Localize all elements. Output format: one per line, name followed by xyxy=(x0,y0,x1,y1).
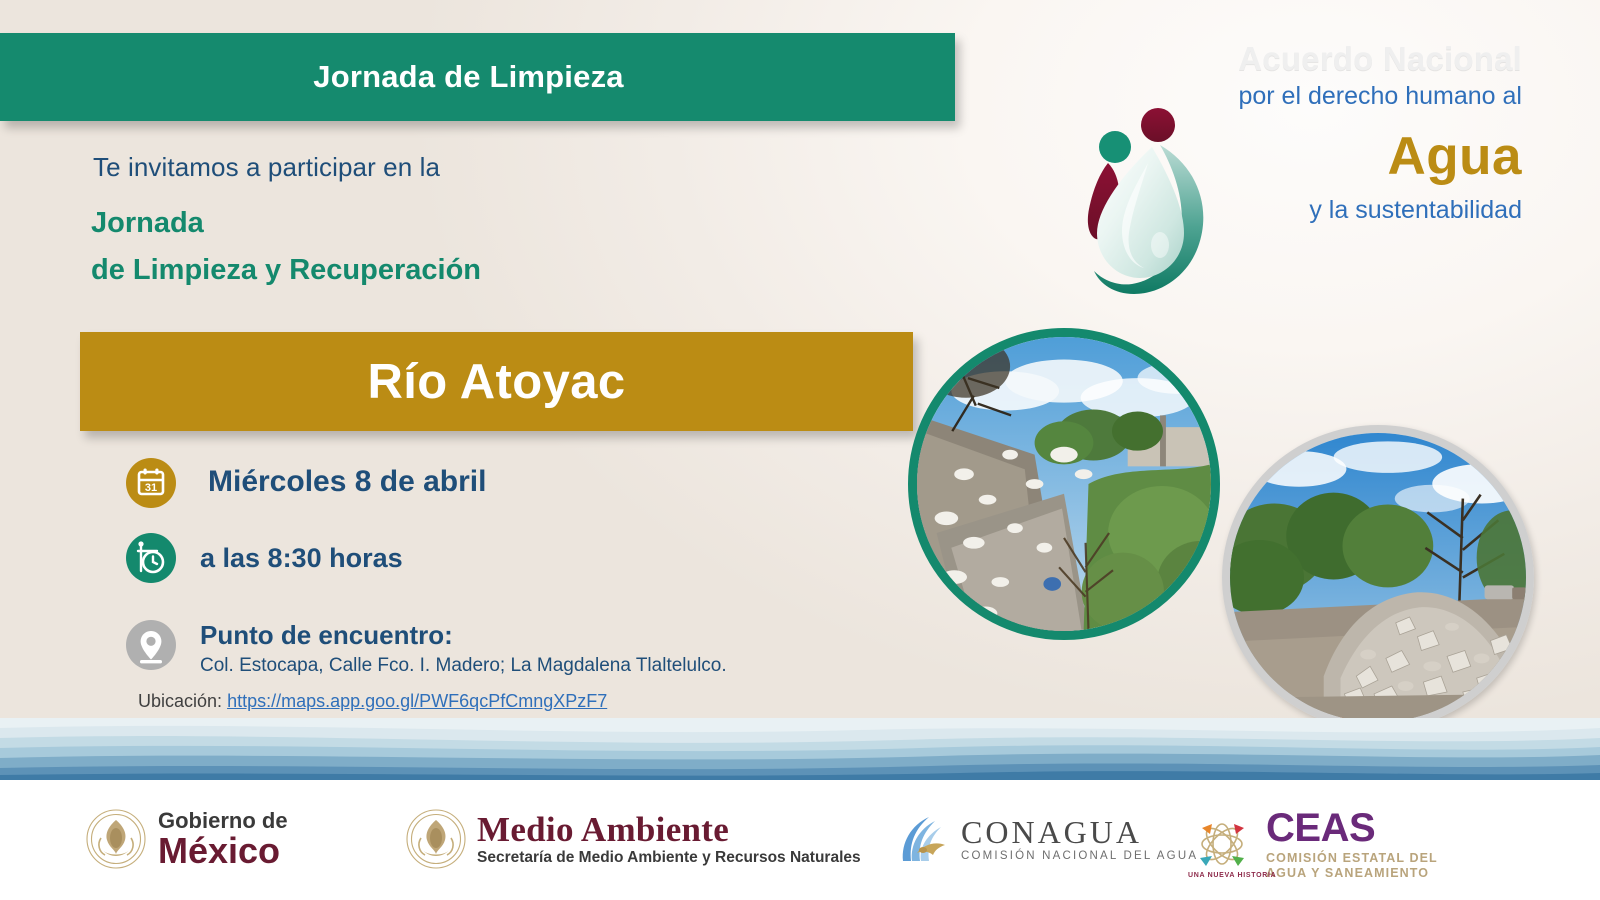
footer-bar: Gobierno de México Medio Ambiente Secret… xyxy=(0,780,1600,900)
clock-icon xyxy=(126,533,176,583)
semarnat-logo: Medio Ambiente Secretaría de Medio Ambie… xyxy=(405,808,861,870)
conagua-line2: COMISIÓN NACIONAL DEL AGUA xyxy=(961,851,1198,863)
place-text-block: Punto de encuentro: Col. Estocapa, Calle… xyxy=(200,620,727,677)
detail-row-time: a las 8:30 horas xyxy=(126,533,403,583)
campaign-line-agua: Agua xyxy=(1388,126,1523,187)
event-time: a las 8:30 horas xyxy=(200,543,403,574)
ceas-line1: CEAS xyxy=(1266,808,1438,848)
conagua-text-block: CONAGUA COMISIÓN NACIONAL DEL AGUA xyxy=(961,816,1198,863)
location-line: Ubicación: https://maps.app.goo.gl/PWF6q… xyxy=(138,691,607,712)
calendar-icon: 31 xyxy=(126,458,176,508)
campaign-line-derecho: por el derecho humano al xyxy=(1238,82,1522,111)
eagle-water-swoosh-icon xyxy=(895,813,953,865)
photo-river-bank-trash xyxy=(908,328,1220,640)
gobierno-de-mexico-logo: Gobierno de México xyxy=(85,808,288,870)
campaign-line-sustentabilidad: y la sustentabilidad xyxy=(1309,196,1522,225)
mexican-coat-of-arms xyxy=(405,808,467,870)
gobierno-line2: México xyxy=(158,833,288,869)
semarnat-line2: Secretaría de Medio Ambiente y Recursos … xyxy=(477,850,861,866)
wave-decoration xyxy=(0,718,1600,780)
location-label: Ubicación: xyxy=(138,691,222,711)
header-banner: Jornada de Limpieza xyxy=(0,33,955,121)
conagua-logo: CONAGUA COMISIÓN NACIONAL DEL AGUA xyxy=(895,813,1198,865)
header-banner-title: Jornada de Limpieza xyxy=(313,59,623,95)
flower-mark-icon: UNA NUEVA HISTORIA xyxy=(1190,812,1254,876)
event-headline: Jornada de Limpieza y Recuperación xyxy=(91,200,481,294)
place-address: Col. Estocapa, Calle Fco. I. Madero; La … xyxy=(200,655,727,677)
river-name: Río Atoyac xyxy=(367,354,625,410)
gobierno-text-block: Gobierno de México xyxy=(158,810,288,869)
photo-rubble-pile xyxy=(1222,425,1534,730)
water-drop-people-logo xyxy=(1048,105,1228,310)
mexican-coat-of-arms xyxy=(85,808,147,870)
place-label: Punto de encuentro: xyxy=(200,620,727,651)
ceas-line3: AGUA Y SANEAMIENTO xyxy=(1266,867,1438,880)
campaign-line-acuerdo: Acuerdo Nacional xyxy=(1238,40,1522,78)
gobierno-line1: Gobierno de xyxy=(158,810,288,832)
invitation-line: Te invitamos a participar en la xyxy=(93,152,440,183)
ceas-tagline: UNA NUEVA HISTORIA xyxy=(1188,872,1276,879)
svg-text:31: 31 xyxy=(145,482,157,494)
ceas-logo: UNA NUEVA HISTORIA CEAS COMISIÓN ESTATAL… xyxy=(1190,808,1438,879)
ceas-line2: COMISIÓN ESTATAL DEL xyxy=(1266,852,1438,865)
event-date: Miércoles 8 de abril xyxy=(208,465,486,499)
location-url-link[interactable]: https://maps.app.goo.gl/PWF6qcPfCmngXPzF… xyxy=(227,691,607,711)
event-headline-line2: de Limpieza y Recuperación xyxy=(91,247,481,294)
ceas-text-block: CEAS COMISIÓN ESTATAL DEL AGUA Y SANEAMI… xyxy=(1266,808,1438,879)
semarnat-text-block: Medio Ambiente Secretaría de Medio Ambie… xyxy=(477,812,861,866)
poster-canvas: Jornada de Limpieza Te invitamos a parti… xyxy=(0,0,1600,900)
semarnat-line1: Medio Ambiente xyxy=(477,812,861,847)
detail-row-place: Punto de encuentro: Col. Estocapa, Calle… xyxy=(126,620,727,677)
event-headline-line1: Jornada xyxy=(91,200,481,247)
river-banner: Río Atoyac xyxy=(80,332,913,431)
map-pin-icon xyxy=(126,620,176,670)
conagua-line1: CONAGUA xyxy=(961,816,1198,848)
detail-row-date: 31 Miércoles 8 de abril xyxy=(126,458,486,508)
